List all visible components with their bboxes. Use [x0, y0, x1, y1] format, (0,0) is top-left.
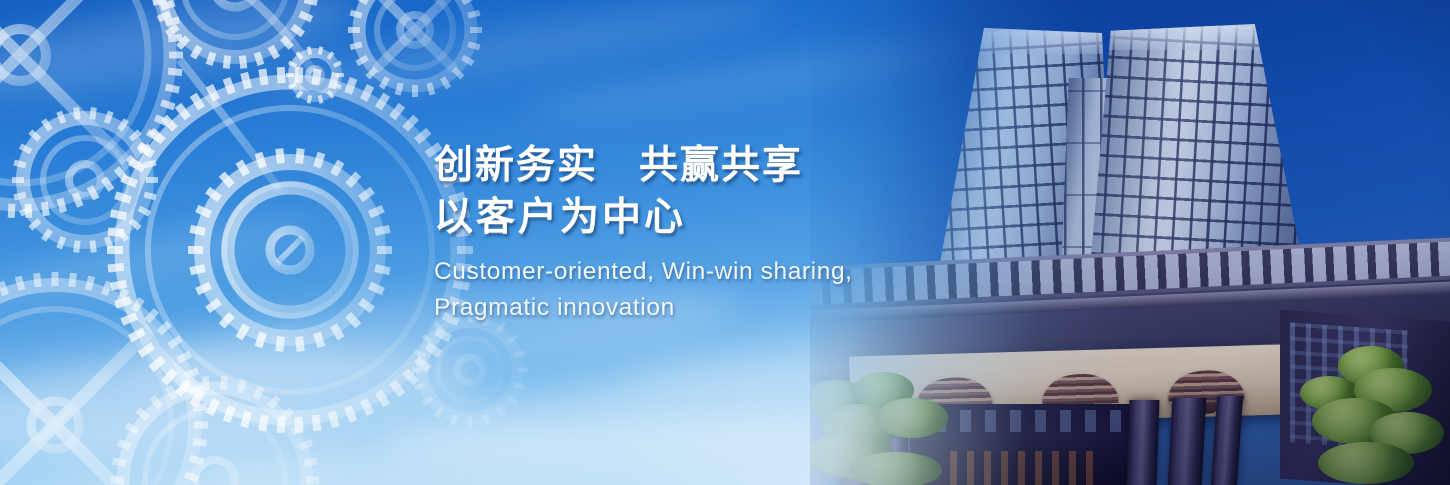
- banner-copy: 创新务实 共赢共享 以客户为中心 Customer-oriented, Win-…: [434, 140, 994, 326]
- subtitle-english-line1: Customer-oriented, Win-win sharing,: [434, 254, 994, 290]
- headline-chinese-line2: 以客户为中心: [434, 192, 994, 244]
- subtitle-english-line2: Pragmatic innovation: [434, 290, 994, 326]
- headline-chinese-line1: 创新务实 共赢共享: [434, 140, 994, 192]
- hero-banner: 创新务实 共赢共享 以客户为中心 Customer-oriented, Win-…: [0, 0, 1450, 485]
